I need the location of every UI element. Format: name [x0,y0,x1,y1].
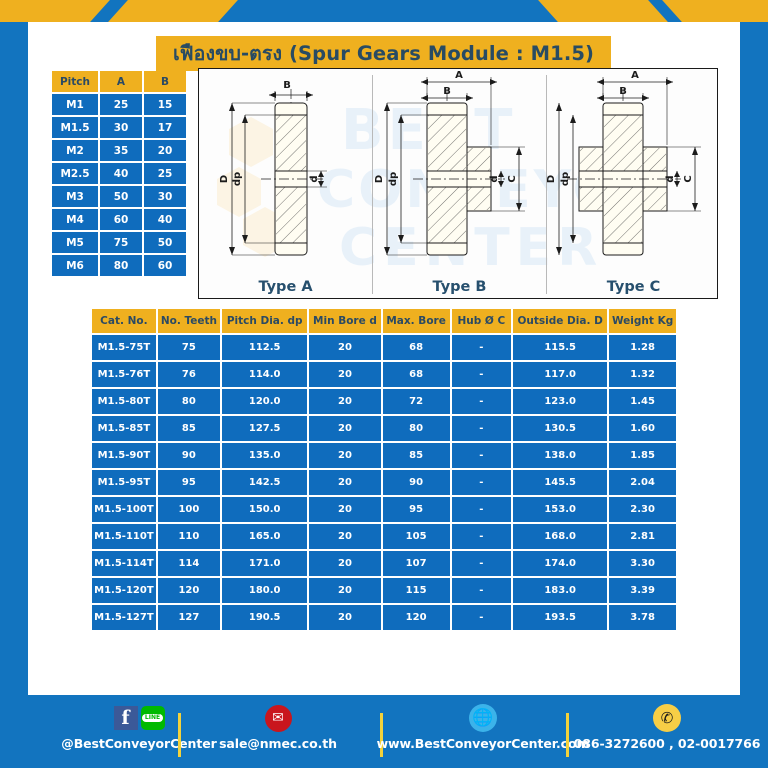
pitch-cell: M6 [52,255,98,276]
table-row: M3 50 30 [52,186,186,207]
cell-outside-dia: 153.0 [513,497,607,522]
pitch-reference-table: Pitch A B M1 25 15 M1.5 30 17 M2 [50,69,188,278]
table-row: M1.5-114T 114 171.0 20 107 - 174.0 3.30 [92,551,676,576]
col-header-cat-no: Cat. No. [92,309,156,333]
table-row: M1.5-85T 85 127.5 20 80 - 130.5 1.60 [92,416,676,441]
footer-phone[interactable]: ✆ 086-3272600 , 02-0017766 [566,703,768,751]
cell-outside-dia: 145.5 [513,470,607,495]
table-row: M1.5-80T 80 120.0 20 72 - 123.0 1.45 [92,389,676,414]
line-badge-label: LINE [142,714,163,722]
cell-min-bore: 20 [309,470,380,495]
pitch-cell: 25 [100,94,142,115]
cell-pitch-dia: 171.0 [222,551,307,576]
cell-no-teeth: 95 [158,470,220,495]
dim-label-d-outside: D [374,175,385,183]
table-row: M1.5-75T 75 112.5 20 68 - 115.5 1.28 [92,335,676,360]
line-icon[interactable]: LINE [141,706,165,730]
cell-hub-c: - [452,416,512,441]
cell-max-bore: 90 [383,470,450,495]
chevron-shape [662,0,768,22]
pitch-cell: M3 [52,186,98,207]
dim-label-b: B [283,80,291,91]
phone-numbers[interactable]: 086-3272600 , 02-0017766 [566,736,768,751]
pitch-cell: 80 [100,255,142,276]
globe-icon[interactable]: 🌐 [469,704,497,732]
cell-outside-dia: 138.0 [513,443,607,468]
cell-hub-c: - [452,443,512,468]
col-header-weight: Weight Kg [609,309,676,333]
cell-min-bore: 20 [309,335,380,360]
cell-hub-c: - [452,551,512,576]
cell-cat-no: M1.5-120T [92,578,156,603]
table-row: M5 75 50 [52,232,186,253]
cell-outside-dia: 174.0 [513,551,607,576]
cell-max-bore: 105 [383,524,450,549]
cell-hub-c: - [452,524,512,549]
cell-cat-no: M1.5-110T [92,524,156,549]
cell-no-teeth: 100 [158,497,220,522]
dim-label-c: C [683,175,694,182]
gear-type-c: A B D dp d C Type C [547,69,718,299]
cell-hub-c: - [452,605,512,630]
cell-no-teeth: 90 [158,443,220,468]
table-row: M6 80 60 [52,255,186,276]
chevron-shape [0,0,110,22]
col-header-no-teeth: No. Teeth [158,309,220,333]
cell-cat-no: M1.5-100T [92,497,156,522]
chevron-shape [108,0,238,22]
type-a-drawing: B D dp d [199,69,372,275]
pitch-header-pitch: Pitch [52,71,98,92]
cell-pitch-dia: 190.5 [222,605,307,630]
cell-cat-no: M1.5-75T [92,335,156,360]
dim-label-a: A [631,70,639,81]
cell-max-bore: 68 [383,335,450,360]
cell-pitch-dia: 120.0 [222,389,307,414]
table-row: M1.5-127T 127 190.5 20 120 - 193.5 3.78 [92,605,676,630]
cell-outside-dia: 193.5 [513,605,607,630]
cell-max-bore: 80 [383,416,450,441]
spec-table-body: M1.5-75T 75 112.5 20 68 - 115.5 1.28 M1.… [92,335,676,630]
cell-cat-no: M1.5-90T [92,443,156,468]
cell-weight: 2.81 [609,524,676,549]
cell-cat-no: M1.5-114T [92,551,156,576]
phone-icon[interactable]: ✆ [653,704,681,732]
cell-outside-dia: 183.0 [513,578,607,603]
spec-table-wrapper: Cat. No. No. Teeth Pitch Dia. dp Min Bor… [90,307,678,632]
cell-max-bore: 107 [383,551,450,576]
table-row: M4 60 40 [52,209,186,230]
pitch-cell: 50 [144,232,186,253]
cell-cat-no: M1.5-127T [92,605,156,630]
table-row: M1.5-76T 76 114.0 20 68 - 117.0 1.32 [92,362,676,387]
gear-spec-table: Cat. No. No. Teeth Pitch Dia. dp Min Bor… [90,307,678,632]
pitch-cell: 40 [144,209,186,230]
cell-min-bore: 20 [309,578,380,603]
col-header-min-bore: Min Bore d [309,309,380,333]
cell-cat-no: M1.5-85T [92,416,156,441]
col-header-max-bore: Max. Bore [383,309,450,333]
table-header-row: Cat. No. No. Teeth Pitch Dia. dp Min Bor… [92,309,676,333]
cell-max-bore: 85 [383,443,450,468]
table-row: M1.5-110T 110 165.0 20 105 - 168.0 2.81 [92,524,676,549]
cell-pitch-dia: 135.0 [222,443,307,468]
cell-hub-c: - [452,497,512,522]
table-row: M1.5-120T 120 180.0 20 115 - 183.0 3.39 [92,578,676,603]
chevron-shape [538,0,668,22]
table-row: M1 25 15 [52,94,186,115]
cell-min-bore: 20 [309,605,380,630]
envelope-icon[interactable]: ✉ [265,705,292,732]
pitch-cell: 25 [144,163,186,184]
cell-no-teeth: 76 [158,362,220,387]
cell-outside-dia: 123.0 [513,389,607,414]
cell-pitch-dia: 112.5 [222,335,307,360]
dim-label-dp: dp [388,172,399,186]
cell-no-teeth: 75 [158,335,220,360]
dim-label-d-outside: D [219,175,230,183]
cell-max-bore: 68 [383,362,450,387]
cell-hub-c: - [452,362,512,387]
cell-no-teeth: 80 [158,389,220,414]
pitch-header-a: A [100,71,142,92]
cell-hub-c: - [452,578,512,603]
pitch-cell: 15 [144,94,186,115]
cell-weight: 2.04 [609,470,676,495]
table-row: M1.5-90T 90 135.0 20 85 - 138.0 1.85 [92,443,676,468]
dim-label-c: C [507,175,518,182]
cell-pitch-dia: 142.5 [222,470,307,495]
upper-section: Pitch A B M1 25 15 M1.5 30 17 M2 [50,78,718,253]
pitch-cell: 50 [100,186,142,207]
cell-cat-no: M1.5-76T [92,362,156,387]
pitch-cell: 17 [144,117,186,138]
dim-label-d-outside: D [547,175,557,183]
table-header-row: Pitch A B [52,71,186,92]
type-b-drawing: A B D dp d C [373,69,546,275]
col-header-hub-c: Hub Ø C [452,309,512,333]
table-row: M2 35 20 [52,140,186,161]
pitch-cell: 40 [100,163,142,184]
cell-min-bore: 20 [309,443,380,468]
cell-outside-dia: 168.0 [513,524,607,549]
pitch-cell: 20 [144,140,186,161]
type-c-label: Type C [547,279,718,295]
cell-outside-dia: 117.0 [513,362,607,387]
pitch-cell: M2.5 [52,163,98,184]
col-header-outside-dia: Outside Dia. D [513,309,607,333]
facebook-icon[interactable]: f [114,706,138,730]
cell-max-bore: 120 [383,605,450,630]
pitch-cell: M2 [52,140,98,161]
cell-pitch-dia: 165.0 [222,524,307,549]
page-title-banner: เฟืองขบ-ตรง (Spur Gears Module : M1.5) [156,36,611,71]
cell-min-bore: 20 [309,524,380,549]
cell-hub-c: - [452,470,512,495]
cell-no-teeth: 127 [158,605,220,630]
dim-label-d-bore: d [309,175,320,182]
cell-hub-c: - [452,389,512,414]
cell-pitch-dia: 180.0 [222,578,307,603]
cell-no-teeth: 120 [158,578,220,603]
cell-weight: 1.32 [609,362,676,387]
pitch-cell: M1 [52,94,98,115]
dim-label-a: A [455,70,463,81]
cell-weight: 3.39 [609,578,676,603]
cell-pitch-dia: 150.0 [222,497,307,522]
pitch-cell: 60 [144,255,186,276]
type-c-drawing: A B D dp d C [547,69,718,275]
table-row: M1.5 30 17 [52,117,186,138]
gear-type-b: A B D dp d C Type B [373,69,546,299]
pitch-cell: 35 [100,140,142,161]
gear-type-a: B D dp d Type A [199,69,372,299]
cell-outside-dia: 115.5 [513,335,607,360]
table-row: M2.5 40 25 [52,163,186,184]
pitch-header-b: B [144,71,186,92]
cell-weight: 1.28 [609,335,676,360]
table-row: M1.5-100T 100 150.0 20 95 - 153.0 2.30 [92,497,676,522]
cell-min-bore: 20 [309,416,380,441]
cell-max-bore: 95 [383,497,450,522]
table-row: M1.5-95T 95 142.5 20 90 - 145.5 2.04 [92,470,676,495]
cell-no-teeth: 110 [158,524,220,549]
dim-label-d-bore: d [665,175,676,182]
cell-no-teeth: 85 [158,416,220,441]
cell-hub-c: - [452,335,512,360]
cell-max-bore: 72 [383,389,450,414]
pitch-cell: 75 [100,232,142,253]
dim-label-d-bore: d [489,175,500,182]
cell-weight: 3.30 [609,551,676,576]
phone-icon-wrap: ✆ [566,703,768,733]
contact-footer: f LINE @BestConveyorCenter ✉ sale@nmec.c… [0,697,768,768]
dim-label-dp: dp [232,172,243,186]
cell-min-bore: 20 [309,389,380,414]
top-decorative-band [0,0,768,22]
content-page: เฟืองขบ-ตรง (Spur Gears Module : M1.5) P… [28,22,740,695]
cell-no-teeth: 114 [158,551,220,576]
pitch-cell: 30 [144,186,186,207]
cell-outside-dia: 130.5 [513,416,607,441]
cell-cat-no: M1.5-95T [92,470,156,495]
cell-pitch-dia: 127.5 [222,416,307,441]
cell-min-bore: 20 [309,362,380,387]
pitch-cell: M4 [52,209,98,230]
cell-weight: 1.60 [609,416,676,441]
cell-min-bore: 20 [309,551,380,576]
pitch-cell: M5 [52,232,98,253]
cell-pitch-dia: 114.0 [222,362,307,387]
dim-label-b: B [619,86,627,97]
pitch-cell: 60 [100,209,142,230]
dim-label-dp: dp [560,172,571,186]
dim-label-b: B [443,86,451,97]
cell-weight: 1.85 [609,443,676,468]
col-header-pitch-dia: Pitch Dia. dp [222,309,307,333]
gear-diagram-panel: BEST CONVEYOR CENTER [198,68,718,299]
cell-weight: 3.78 [609,605,676,630]
cell-weight: 2.30 [609,497,676,522]
pitch-cell: M1.5 [52,117,98,138]
cell-min-bore: 20 [309,497,380,522]
cell-cat-no: M1.5-80T [92,389,156,414]
type-b-label: Type B [373,279,546,295]
page-title: เฟืองขบ-ตรง (Spur Gears Module : M1.5) [173,38,594,69]
cell-weight: 1.45 [609,389,676,414]
type-a-label: Type A [199,279,372,295]
cell-max-bore: 115 [383,578,450,603]
pitch-cell: 30 [100,117,142,138]
